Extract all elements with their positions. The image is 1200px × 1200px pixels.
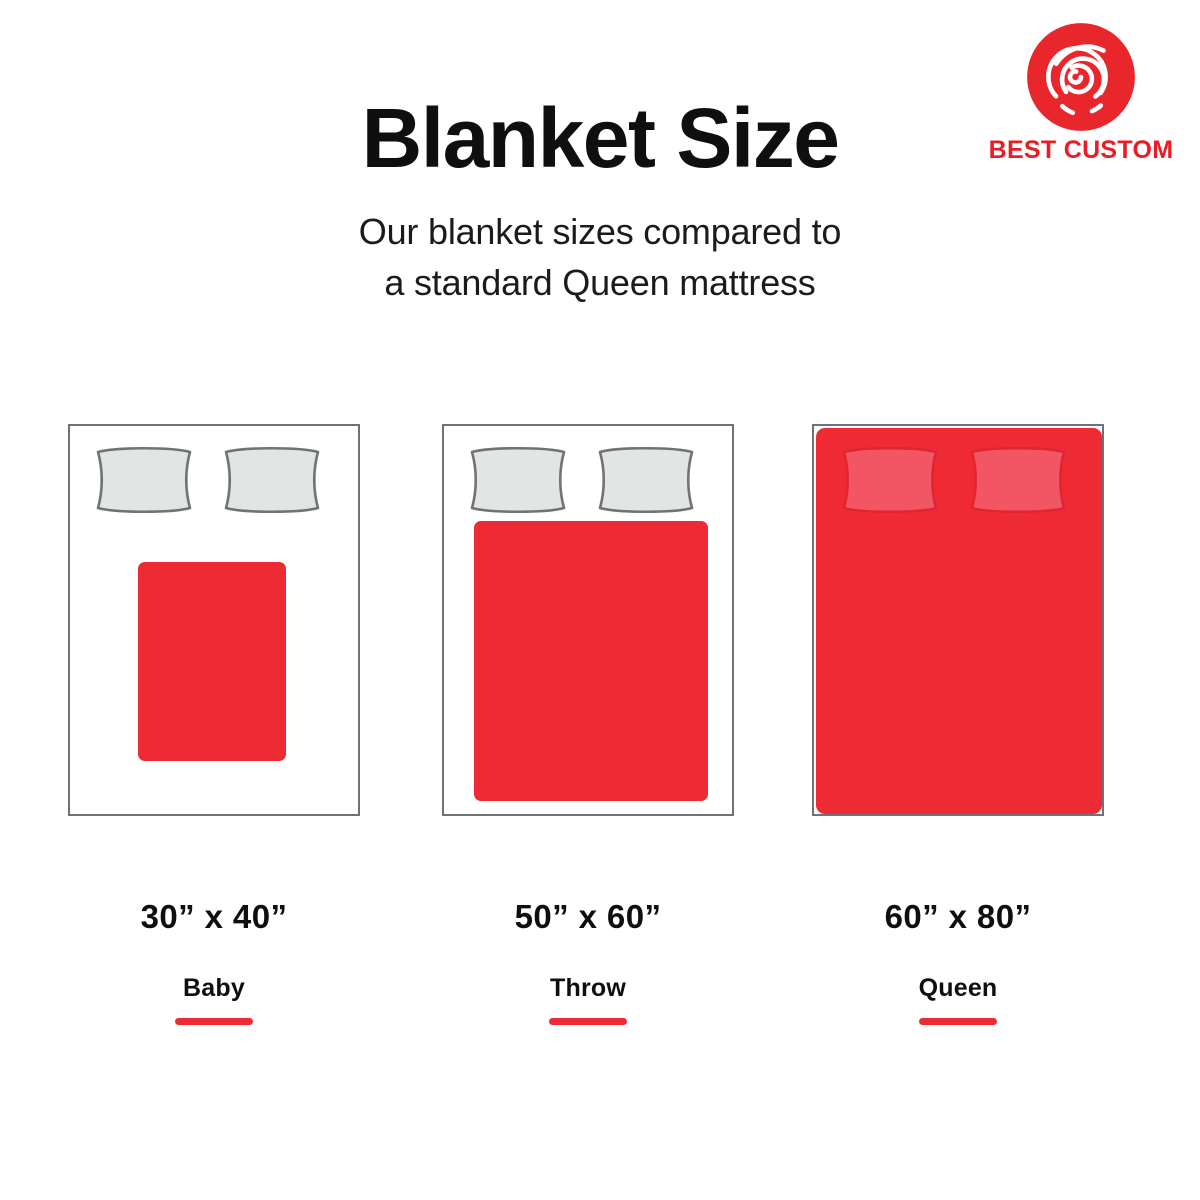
bed-column-throw: 50” x 60” Throw — [418, 424, 758, 1025]
blanket-swatch-baby — [138, 562, 286, 761]
blanket-dimensions: 60” x 80” — [788, 900, 1128, 933]
blanket-swatch-queen — [816, 428, 1102, 814]
blanket-dimensions: 30” x 40” — [44, 900, 384, 933]
subtitle-line-2: a standard Queen mattress — [384, 262, 815, 303]
bed-caption-baby: 30” x 40” Baby — [44, 900, 384, 1025]
blanket-size-name: Queen — [788, 976, 1128, 1001]
blanket-dimensions: 50” x 60” — [418, 900, 758, 933]
mattress-outline-throw — [442, 424, 734, 816]
caption-underline — [175, 1018, 253, 1025]
blanket-size-name: Throw — [418, 976, 758, 1001]
mattress-outline-baby — [68, 424, 360, 816]
pillow-icon — [220, 444, 324, 516]
pillow-icon — [594, 444, 698, 516]
pillow-icon — [966, 444, 1070, 516]
caption-underline — [549, 1018, 627, 1025]
caption-underline — [919, 1018, 997, 1025]
blanket-size-name: Baby — [44, 976, 384, 1001]
bed-column-baby: 30” x 40” Baby — [44, 424, 384, 1025]
header-block: Blanket Size Our blanket sizes compared … — [0, 96, 1200, 308]
bed-comparison-row: 30” x 40” Baby 50” x 60” Throw — [0, 424, 1200, 1064]
mattress-outline-queen — [812, 424, 1104, 816]
pillow-icon — [466, 444, 570, 516]
blanket-swatch-throw — [474, 521, 708, 801]
page-subtitle: Our blanket sizes compared to a standard… — [0, 206, 1200, 308]
bed-caption-throw: 50” x 60” Throw — [418, 900, 758, 1025]
pillow-icon — [92, 444, 196, 516]
pillow-icon — [838, 444, 942, 516]
subtitle-line-1: Our blanket sizes compared to — [359, 211, 841, 252]
bed-caption-queen: 60” x 80” Queen — [788, 900, 1128, 1025]
page-title: Blanket Size — [0, 96, 1200, 180]
bed-column-queen: 60” x 80” Queen — [788, 424, 1128, 1025]
